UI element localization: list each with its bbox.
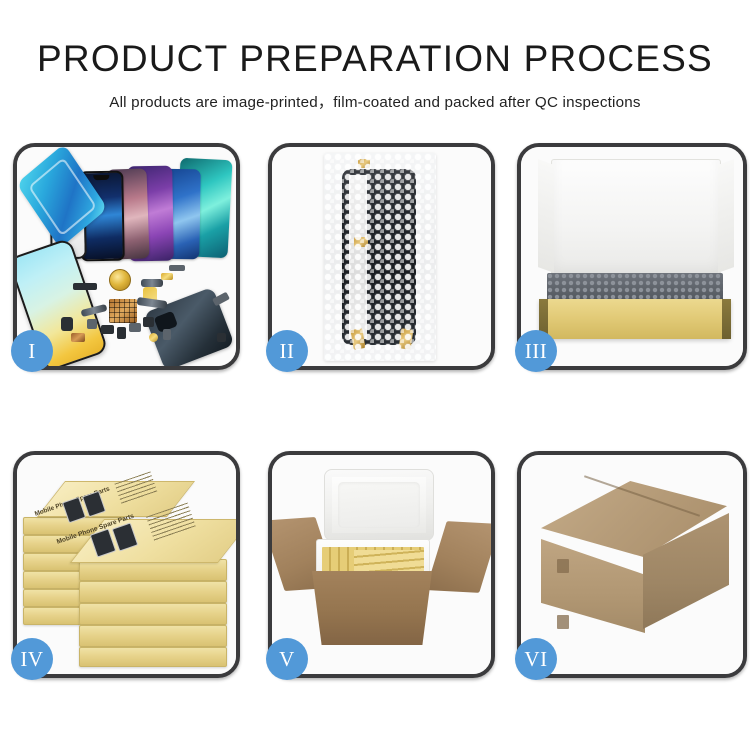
step-4-image: Mobile Phone Spare Parts Mobile Phone Sp… [17,455,236,674]
process-step-panel-5[interactable]: V [268,451,495,678]
process-step-panel-2[interactable]: II [268,143,495,370]
step-badge-2: II [266,330,308,372]
step-2-image [272,147,491,366]
carton-tape-mark [557,615,569,629]
small-module-part [101,325,114,334]
step-badge-3: III [515,330,557,372]
speaker-part [109,269,131,291]
camera-part [117,327,126,339]
page-title: PRODUCT PREPARATION PROCESS [0,0,750,79]
small-module-part [163,329,171,340]
stacked-box [79,625,227,647]
page-header: PRODUCT PREPARATION PROCESS All products… [0,0,750,112]
carton-flap-right [426,521,491,593]
connector-part [169,265,185,271]
stacked-box [79,647,227,667]
step-badge-5: V [266,638,308,680]
stacked-box [79,581,227,603]
step-badge-4: IV [11,638,53,680]
flex-cable-part [141,279,163,287]
carton-tape-mark [557,559,569,573]
process-step-panel-6[interactable]: VI [517,451,747,678]
process-step-grid: I II III [13,143,747,678]
copper-part [71,333,85,342]
process-step-panel-1[interactable]: I [13,143,240,370]
gold-contact-part [161,273,173,280]
step-5-image [272,455,491,674]
box-stack: Mobile Phone Spare Parts Mobile Phone Sp… [17,455,236,674]
foam-box-lid [324,469,434,541]
step-3-image [521,147,743,366]
step-badge-6: VI [515,638,557,680]
carton-front-wall [312,571,432,645]
phone-notch-icon [93,175,109,180]
step-6-image [521,455,743,674]
gold-screw-part [149,333,158,342]
foam-sheet-lid [551,159,721,279]
small-module-part [87,319,97,329]
connector-part [73,283,97,290]
page-subtitle: All products are image-printed，film-coat… [0,79,750,112]
small-module-part [143,317,154,327]
small-module-part [217,333,226,342]
step-1-image [17,147,236,366]
process-step-panel-4[interactable]: Mobile Phone Spare Parts Mobile Phone Sp… [13,451,240,678]
bubble-film-highlights [324,153,436,361]
bubble-wrapped-screen [324,153,436,361]
small-module-part [61,317,73,331]
yellow-inner-box-base [539,299,731,339]
stacked-box [79,603,227,625]
process-step-panel-3[interactable]: III [517,143,747,370]
flex-cable-part [137,297,168,309]
step-badge-1: I [11,330,53,372]
chip-grid-part [109,299,137,323]
small-module-part [129,323,141,332]
